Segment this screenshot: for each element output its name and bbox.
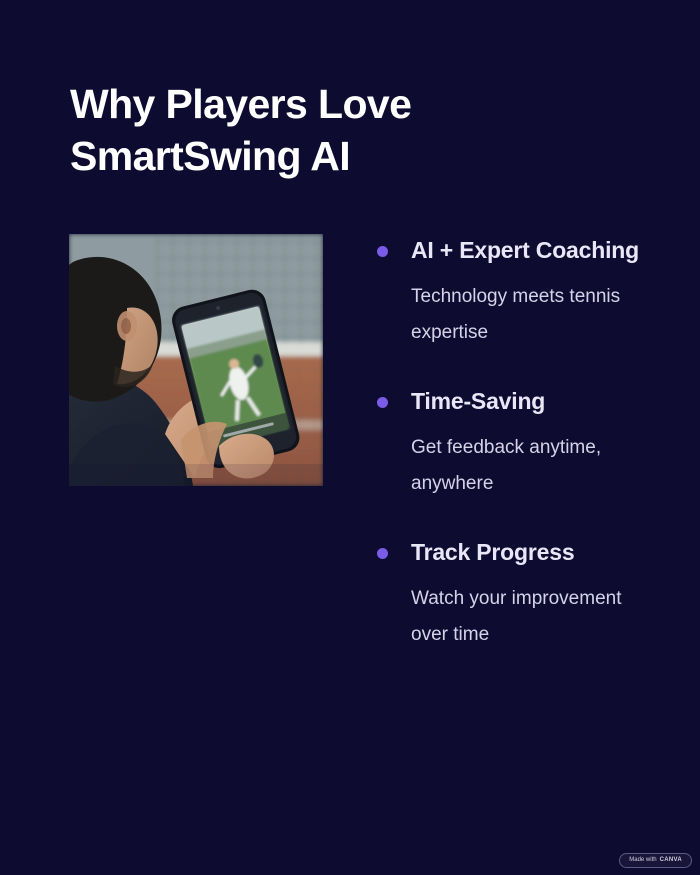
tennis-phone-photo-illustration — [69, 234, 323, 486]
bullet-icon — [377, 397, 388, 408]
bullet-icon — [377, 548, 388, 559]
feature-description: Technology meets tennis expertise — [411, 279, 626, 351]
list-item: Time-Saving Get feedback anytime, anywhe… — [372, 385, 672, 502]
list-item: Track Progress Watch your improvement ov… — [372, 536, 672, 653]
feature-description: Get feedback anytime, anywhere — [411, 430, 626, 502]
bullet-icon — [377, 246, 388, 257]
feature-heading: Time-Saving — [411, 385, 672, 418]
page-title: Why Players Love SmartSwing AI — [70, 78, 570, 182]
list-item: AI + Expert Coaching Technology meets te… — [372, 234, 672, 351]
watermark-brand: CANVA — [660, 856, 682, 865]
feature-photo — [69, 234, 323, 486]
feature-description: Watch your improvement over time — [411, 581, 626, 653]
canva-watermark-badge[interactable]: Made with CANVA — [619, 853, 692, 868]
slide-canvas: Why Players Love SmartSwing AI — [0, 0, 700, 875]
feature-heading: Track Progress — [411, 536, 672, 569]
feature-list: AI + Expert Coaching Technology meets te… — [372, 234, 672, 653]
feature-heading: AI + Expert Coaching — [411, 234, 672, 267]
watermark-prefix: Made with — [629, 856, 656, 865]
